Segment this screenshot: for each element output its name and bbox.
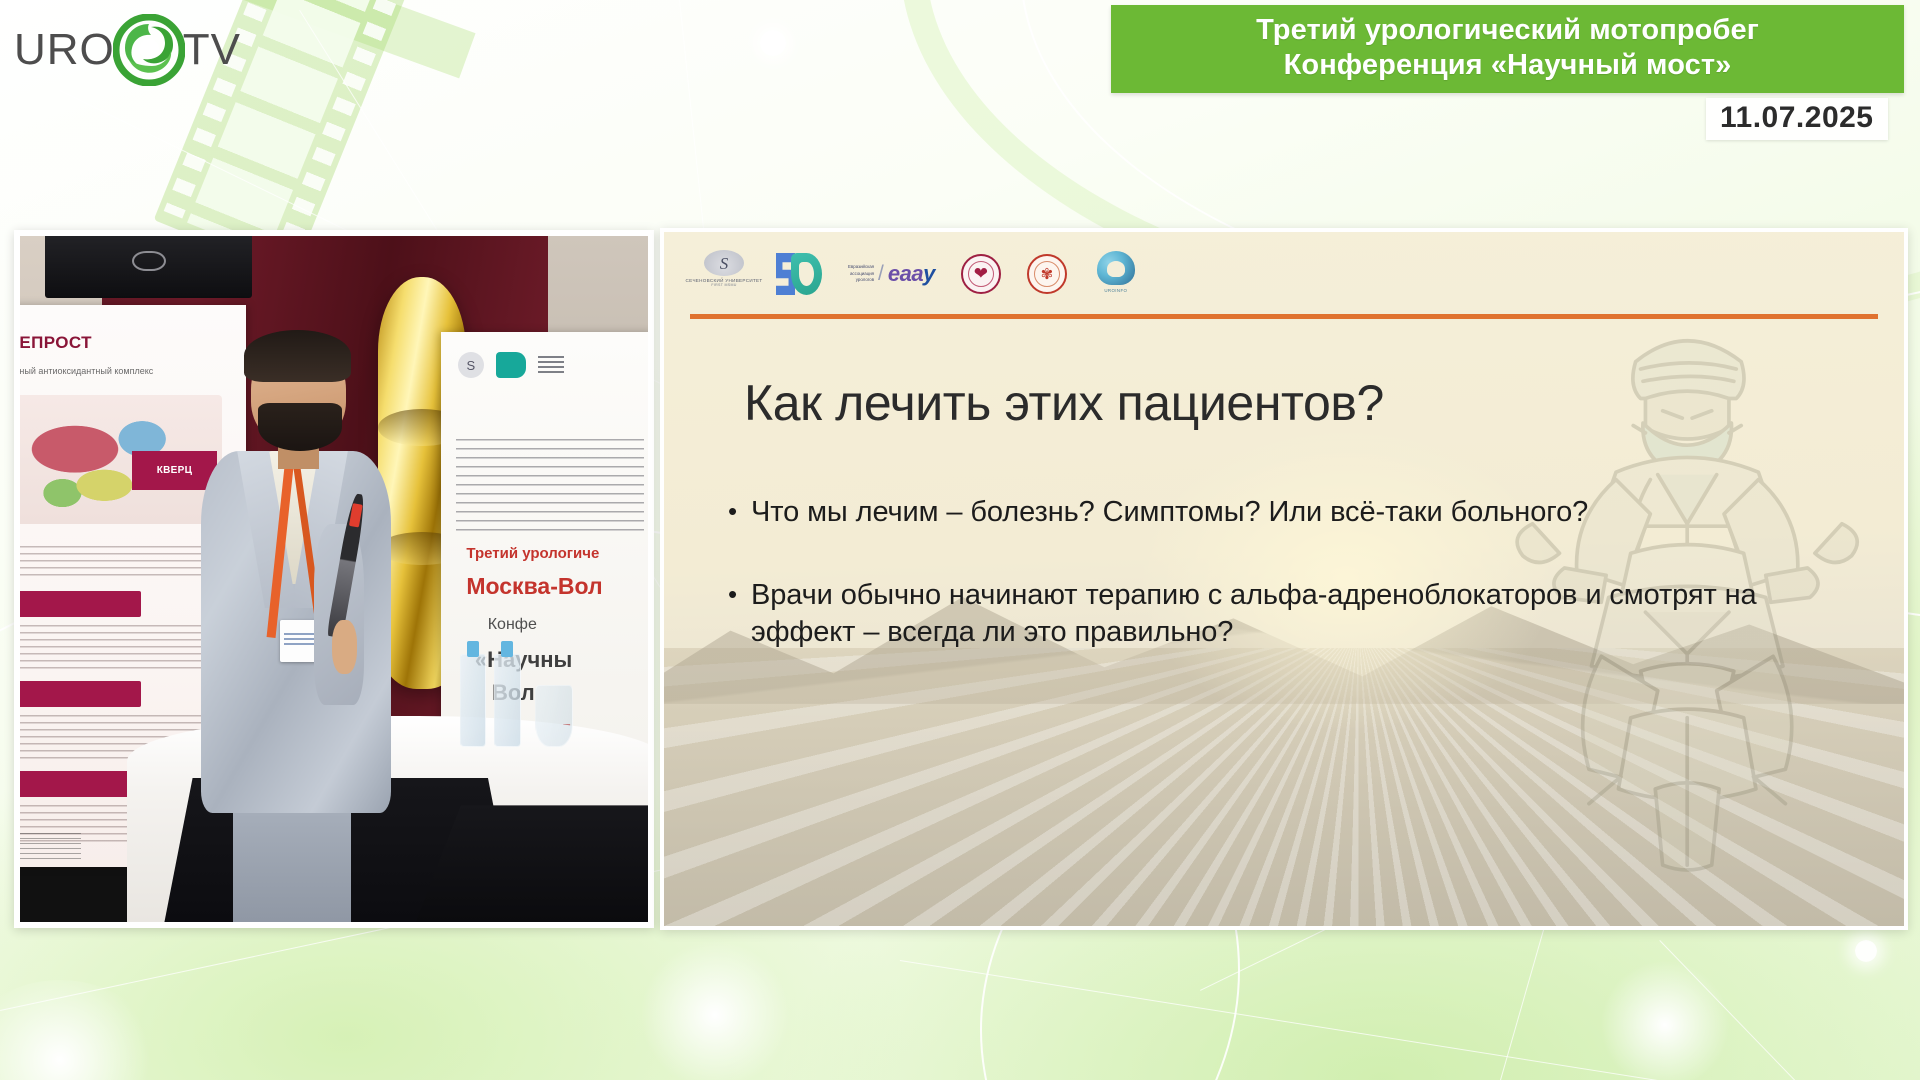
eaau-slash: / [878,262,884,286]
speaker-beard [258,403,342,451]
sechenov-logo-small: S [458,352,484,378]
water-bottle-1 [460,654,486,747]
sechenov-monogram: S [720,254,729,274]
sechenov-caption-2: FIRST MSMU [711,283,736,287]
fifty-anniversary-logo [776,251,822,297]
uroinfo-caption: UROINFO [1104,288,1127,293]
ornament-icon: ✾ [1029,256,1065,292]
drinking-glass [535,685,573,747]
eaau-wordmark: eaay [888,261,935,287]
bullet-dot-icon: • [728,494,737,531]
slide-bullet-text: Врачи обычно начинают терапию с альфа-ад… [751,577,1819,651]
speaker-hair [244,330,350,381]
rollup-title-2: Москва-Вол [466,573,602,600]
eaau-tiny-3: урологов [848,277,874,284]
eaau-tiny-1: Евразийская [848,264,874,271]
water-bottle-2 [494,654,520,747]
eaau-tiny-2: ассоциация [848,271,874,278]
slide-bullet-list: • Что мы лечим – болезнь? Симптомы? Или … [728,494,1819,697]
barcode-mark [538,356,564,374]
rollup-title-3: Конфе [488,616,537,634]
sechenov-university-logo: S СЕЧЕНОВСКИЙ УНИВЕРСИТЕТ FIRST MSMU [698,250,750,298]
logo-text-tv: TV [183,25,241,75]
speaker-hand [332,620,357,674]
slide-partner-logos: S СЕЧЕНОВСКИЙ УНИВЕРСИТЕТ FIRST MSMU Евр… [698,250,1139,298]
logo-text-uro: URO [14,25,115,75]
eaau-logo: Евразийская ассоциация урологов / eaay [848,261,935,287]
rollup-section-bar-2 [17,681,141,707]
slide-bullet-item: • Что мы лечим – болезнь? Симптомы? Или … [728,494,1819,531]
rollup-organizer-list [456,439,644,535]
rollup-fine-print [14,833,81,861]
medical-seal-logo: ❤ [961,254,1001,294]
conference-title-line2: Конференция «Научный мост» [1111,48,1904,83]
rollup-section-bar-3 [17,771,141,797]
conference-title-line1: Третий урологический мотопробег [1111,13,1904,48]
broadcast-stage: URO TV Третий урологический мотопробег К… [0,0,1920,1080]
slide-divider-rule [690,314,1878,319]
rollup-title-4: «Научны [475,647,572,673]
fifty-logo-small [496,352,526,378]
ceiling-speaker [45,230,252,298]
slide-bullet-item: • Врачи обычно начинают терапию с альфа-… [728,577,1819,651]
broadcast-date-badge: 11.07.2025 [1706,98,1888,140]
slide-title: Как лечить этих пациентов? [744,377,1761,430]
rollup-product-subtitle: ный антиоксидантный комплекс [19,366,153,376]
rollup-logo-row: S [458,352,564,378]
slide-bullet-text: Что мы лечим – болезнь? Симптомы? Или вс… [751,494,1819,531]
live-speaker-video[interactable]: ЕПРОСТ ный антиоксидантный комплекс КВЕР… [14,230,654,928]
rollup-product-title: ЕПРОСТ [19,333,92,353]
bullet-dot-icon: • [728,577,737,651]
rollup-section-bar-1 [17,591,141,617]
rollup-title-1: Третий урологиче [466,545,599,562]
uro-tv-logo[interactable]: URO TV [14,14,241,86]
presentation-slide[interactable]: S СЕЧЕНОВСКИЙ УНИВЕРСИТЕТ FIRST MSMU Евр… [660,228,1908,930]
speaker-person [183,318,409,922]
vologda-region-seal-logo: ✾ [1027,254,1067,294]
conference-title-banner: Третий урологический мотопробег Конферен… [1111,5,1904,93]
uro-leaf-circle-logo [113,14,185,86]
heart-icon: ❤ [963,256,999,292]
uroinfo-portal-logo: UROINFO [1093,251,1139,297]
